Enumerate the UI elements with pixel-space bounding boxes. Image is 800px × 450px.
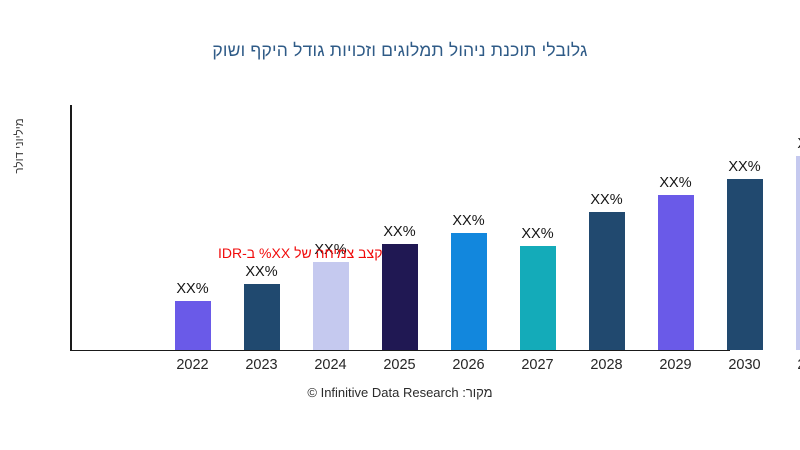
bar-value-label-2029: XX% xyxy=(645,175,707,191)
bar-2026[interactable]: XX% xyxy=(451,105,487,351)
x-tick-2023: 2023 xyxy=(231,357,293,373)
bar-value-label-2023: XX% xyxy=(231,264,293,280)
x-tick-2029: 2029 xyxy=(645,357,707,373)
x-tick-2028: 2028 xyxy=(576,357,638,373)
bar-2024[interactable]: XX% xyxy=(313,105,349,351)
bar-value-label-2031: XX% xyxy=(783,136,800,152)
bar-rect-2024[interactable] xyxy=(313,262,349,350)
bar-rect-2027[interactable] xyxy=(520,246,556,350)
chart-title: גלובלי תוכנת ניהול תמלוגים וזכויות גודל … xyxy=(0,40,800,61)
y-axis-label: מיליוני דולר xyxy=(14,96,26,196)
y-axis-line xyxy=(70,105,72,351)
bar-2029[interactable]: XX% xyxy=(658,105,694,351)
bar-value-label-2030: XX% xyxy=(714,159,776,175)
bar-rect-2030[interactable] xyxy=(727,179,763,350)
bar-2027[interactable]: XX% xyxy=(520,105,556,351)
bar-rect-2022[interactable] xyxy=(175,301,211,350)
x-tick-2030: 2030 xyxy=(714,357,776,373)
bar-rect-2023[interactable] xyxy=(244,284,280,350)
bar-value-label-2028: XX% xyxy=(576,192,638,208)
x-tick-2027: 2027 xyxy=(507,357,569,373)
plot-area: XX%XX%XX%XX%XX%XX%XX%XX%XX%XX% 202220232… xyxy=(70,105,790,351)
x-tick-2025: 2025 xyxy=(369,357,431,373)
bar-2030[interactable]: XX% xyxy=(727,105,763,351)
bar-2022[interactable]: XX% xyxy=(175,105,211,351)
x-tick-2022: 2022 xyxy=(162,357,224,373)
x-tick-2026: 2026 xyxy=(438,357,500,373)
bar-value-label-2027: XX% xyxy=(507,226,569,242)
bar-2025[interactable]: XX% xyxy=(382,105,418,351)
bar-2023[interactable]: XX% xyxy=(244,105,280,351)
source-note: מקור: Infinitive Data Research © xyxy=(0,385,800,400)
bar-value-label-2025: XX% xyxy=(369,224,431,240)
bar-rect-2031[interactable] xyxy=(796,156,800,350)
bar-value-label-2022: XX% xyxy=(162,281,224,297)
bar-rect-2025[interactable] xyxy=(382,244,418,350)
chart-container: גלובלי תוכנת ניהול תמלוגים וזכויות גודל … xyxy=(0,0,800,450)
bar-rect-2026[interactable] xyxy=(451,233,487,350)
cagr-annotation: קצב צמיחה של XX% ב-IDR xyxy=(218,245,382,261)
bar-2028[interactable]: XX% xyxy=(589,105,625,351)
bar-value-label-2026: XX% xyxy=(438,213,500,229)
x-tick-2031: 2031 xyxy=(783,357,800,373)
bar-2031[interactable]: XX% xyxy=(796,105,800,351)
x-tick-2024: 2024 xyxy=(300,357,362,373)
bar-rect-2028[interactable] xyxy=(589,212,625,350)
bar-rect-2029[interactable] xyxy=(658,195,694,350)
